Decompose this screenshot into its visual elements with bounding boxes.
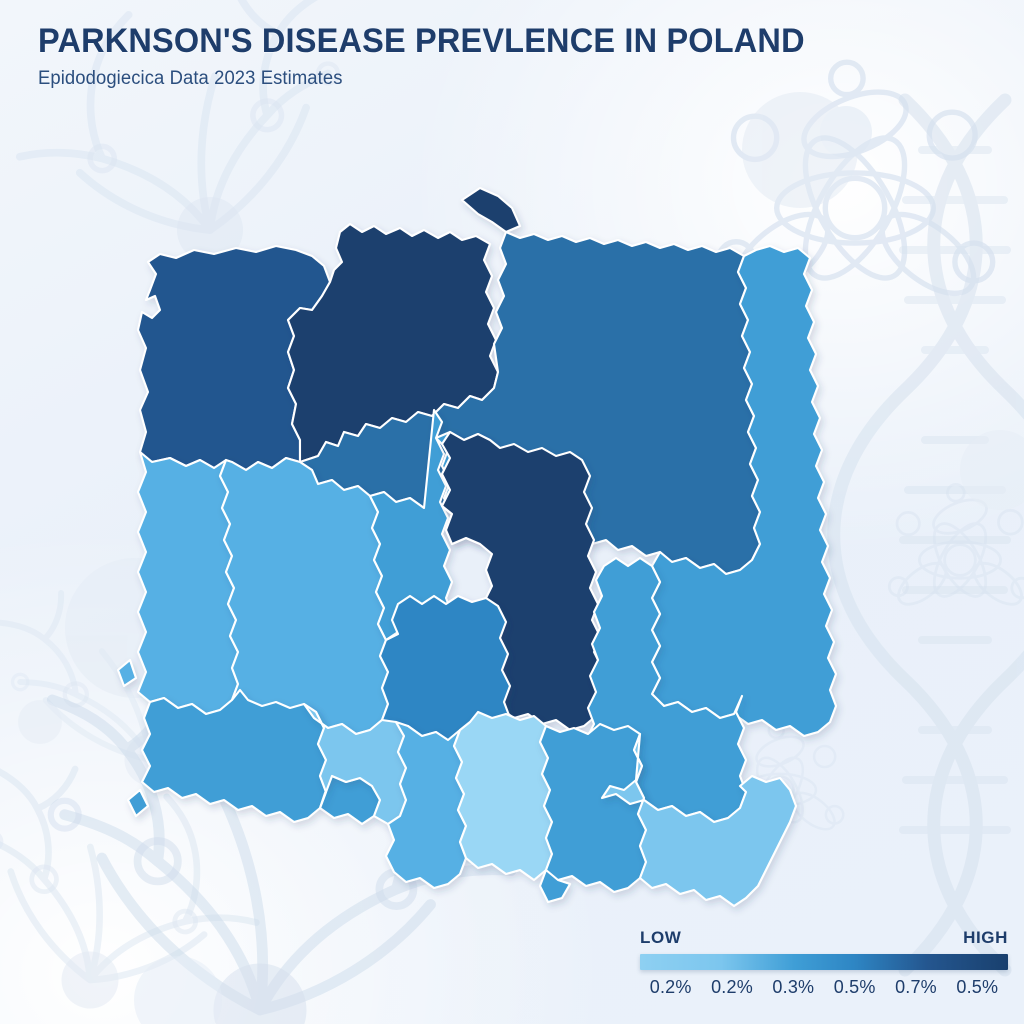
region-malopolskie[interactable] — [540, 724, 646, 902]
legend-low-label: LOW — [640, 928, 681, 948]
legend-tick: 0.5% — [947, 977, 1008, 998]
legend-tick: 0.3% — [763, 977, 824, 998]
map-legend: LOW HIGH 0.2% 0.2% 0.3% 0.5% 0.7% 0.5% — [640, 928, 1008, 998]
legend-tick-labels: 0.2% 0.2% 0.3% 0.5% 0.7% 0.5% — [640, 977, 1008, 998]
legend-tick: 0.2% — [701, 977, 762, 998]
legend-tick: 0.2% — [640, 977, 701, 998]
poland-choropleth-map — [0, 0, 1024, 1024]
region-wielkopolskie[interactable] — [220, 458, 388, 734]
legend-tick: 0.5% — [824, 977, 885, 998]
legend-tick: 0.7% — [885, 977, 946, 998]
region-swietokrzyskie[interactable] — [454, 712, 552, 880]
region-layer — [118, 188, 836, 906]
poster-canvas: PARKNSON'S DISEASE PREVLENCE IN POLAND E… — [0, 0, 1024, 1024]
region-lubuskie[interactable] — [118, 452, 238, 714]
legend-high-label: HIGH — [963, 928, 1008, 948]
legend-gradient-bar — [640, 954, 1008, 970]
legend-endpoints: LOW HIGH — [640, 928, 1008, 948]
